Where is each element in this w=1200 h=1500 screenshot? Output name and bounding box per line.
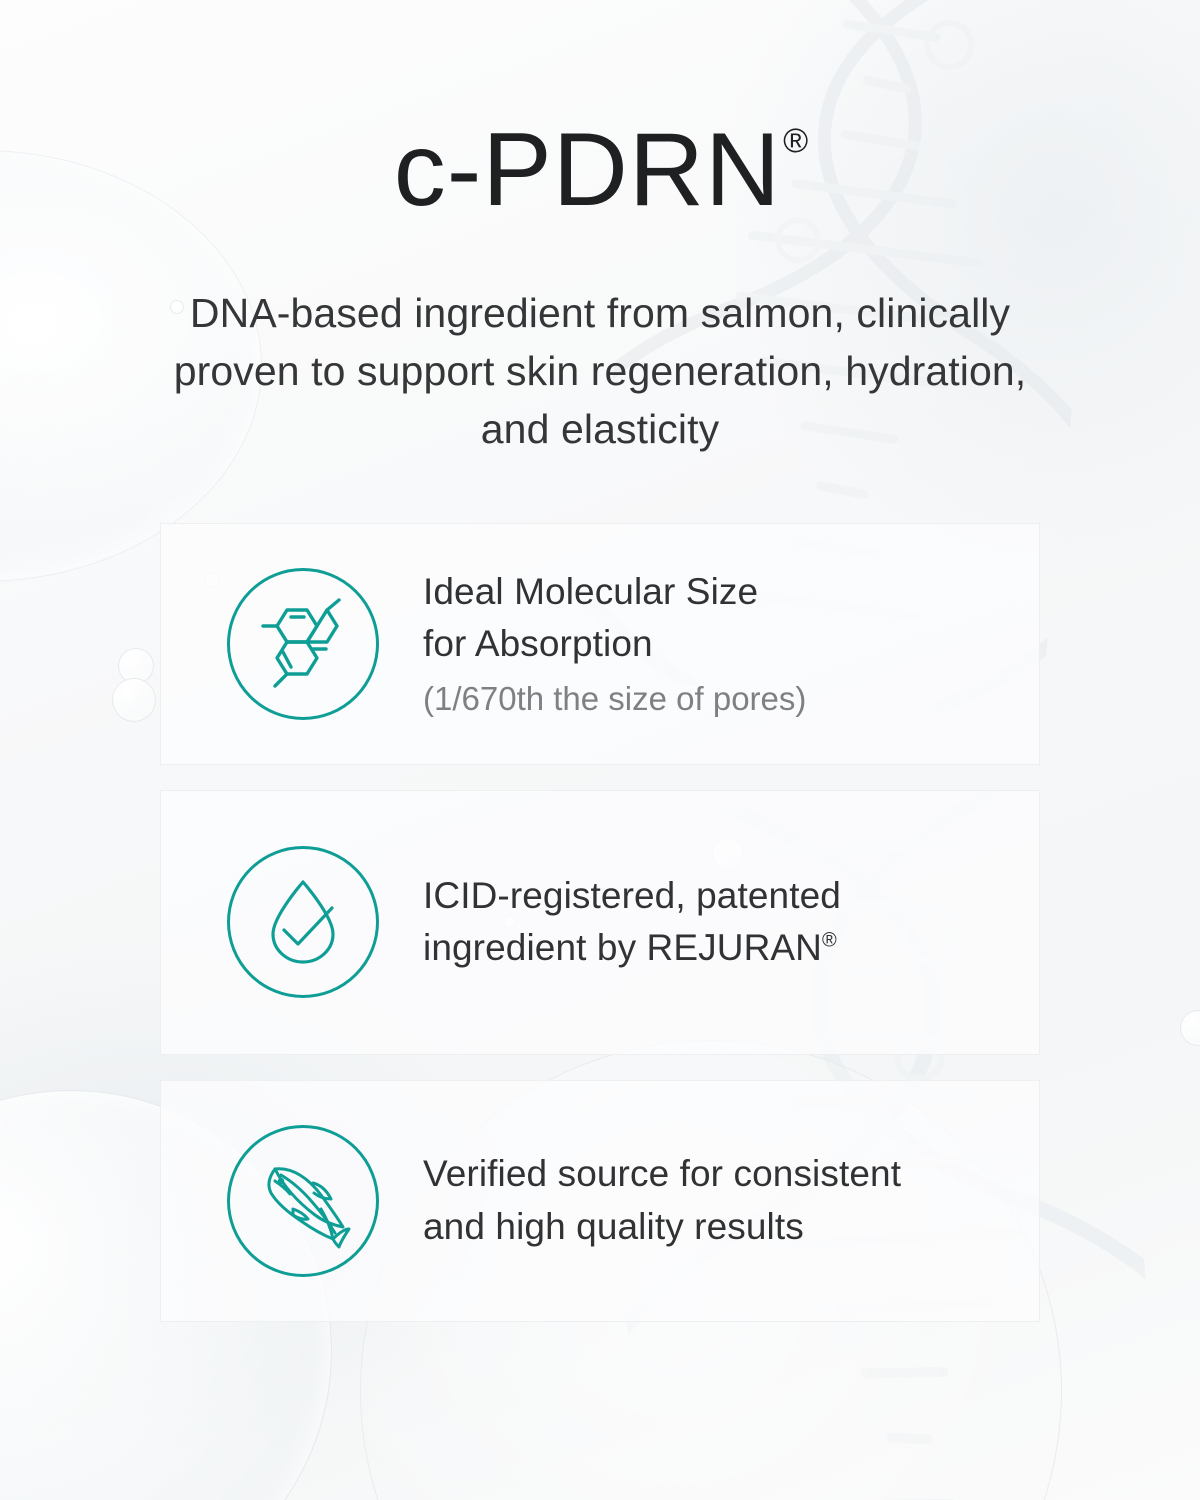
registered-trademark-symbol: ® [783,122,808,160]
feature-title: Verified source for consistent and high … [423,1148,1005,1253]
feature-text: Ideal Molecular Size for Absorption (1/6… [423,566,1005,722]
feature-icon-wrapper [227,1125,379,1277]
feature-card-list: Ideal Molecular Size for Absorption (1/6… [160,523,1040,1322]
bubble-decoration-small [118,648,154,684]
molecule-icon [251,592,355,696]
fish-icon [253,1151,353,1251]
brand-name: c-PDRN [394,112,781,228]
brand-title: c-PDRN® [394,118,806,222]
feature-subtext: (1/670th the size of pores) [423,677,1005,722]
feature-icon-wrapper [227,846,379,998]
feature-icon-wrapper [227,568,379,720]
feature-text: ICID-registered, patented ingredient by … [423,870,1005,975]
bubble-decoration-small [112,678,156,722]
feature-title-text: ICID-registered, patented ingredient by … [423,875,841,969]
feature-title: Ideal Molecular Size for Absorption [423,566,1005,671]
droplet-check-icon [253,872,353,972]
feature-card-verified-source: Verified source for consistent and high … [160,1080,1040,1322]
icon-circle [227,1125,379,1277]
header: c-PDRN® DNA-based ingredient from salmon… [0,0,1200,459]
feature-card-icid-registered: ICID-registered, patented ingredient by … [160,790,1040,1055]
registered-trademark-symbol: ® [822,930,837,952]
feature-card-molecular-size: Ideal Molecular Size for Absorption (1/6… [160,523,1040,765]
feature-title: ICID-registered, patented ingredient by … [423,870,1005,975]
icon-circle [227,846,379,998]
bubble-decoration-small [1180,1010,1200,1046]
feature-text: Verified source for consistent and high … [423,1148,1005,1253]
icon-circle [227,568,379,720]
page-subtitle: DNA-based ingredient from salmon, clinic… [160,284,1040,459]
promo-page: c-PDRN® DNA-based ingredient from salmon… [0,0,1200,1500]
